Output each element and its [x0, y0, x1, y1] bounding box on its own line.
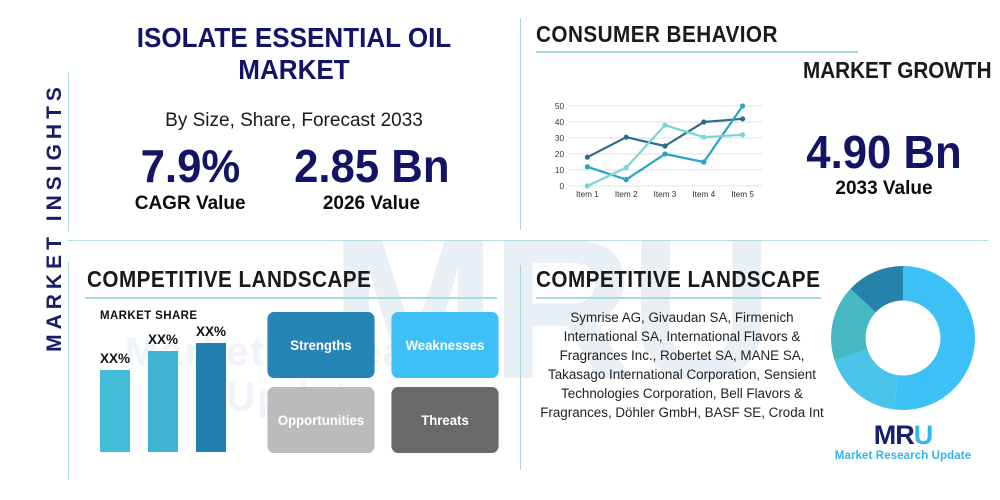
svg-text:40: 40	[555, 118, 565, 127]
panel-consumer-behavior: CONSUMER BEHAVIOR MARKET GROWTH 01020304…	[536, 10, 1000, 240]
consumer-behavior-underline	[536, 51, 858, 53]
market-growth-header: MARKET GROWTH	[536, 57, 1000, 84]
bar-chart-bars: XX%XX%XX%	[100, 324, 264, 452]
competitive-landscape-right-underline	[536, 297, 821, 299]
page-subtitle: By Size, Share, Forecast 2033	[68, 110, 520, 132]
chart-y-axis-labels: 01020304050	[555, 102, 565, 191]
page-title: ISOLATE ESSENTIAL OIL MARKET	[84, 22, 504, 86]
line-chart: 01020304050 Item 1Item 2Item 3Item 4Item…	[542, 98, 766, 210]
chart-series-group	[585, 103, 745, 188]
value-2033: 4.90 Bn	[774, 128, 994, 176]
divider-middle-top	[520, 18, 521, 230]
bar-unit: XX%	[196, 324, 226, 452]
logo-mark-u: U	[914, 420, 933, 450]
kpi-2026: 2.85 Bn 2026 Value	[290, 142, 454, 215]
bar	[196, 343, 226, 452]
kpi-2026-label: 2026 Value	[290, 193, 454, 215]
donut-chart-container: MRU Market Research Update	[823, 262, 983, 492]
swot-grid: StrengthsWeaknessesOpportunitiesThreats	[264, 310, 520, 453]
donut-chart	[827, 262, 979, 414]
svg-text:10: 10	[555, 166, 565, 175]
svg-text:20: 20	[555, 150, 565, 159]
logo-mark-mr: MR	[874, 420, 914, 450]
svg-text:Item 1: Item 1	[576, 190, 599, 199]
swot-box-threats[interactable]: Threats	[391, 387, 498, 453]
competitive-landscape-left-header: COMPETITIVE LANDSCAPE	[68, 258, 520, 293]
kpi-cagr: 7.9% CAGR Value	[135, 142, 246, 215]
competitive-landscape-right-title: COMPETITIVE LANDSCAPE	[536, 266, 820, 293]
panel-header: ISOLATE ESSENTIAL OIL MARKET By Size, Sh…	[68, 10, 520, 240]
svg-text:0: 0	[559, 182, 564, 191]
panel-competitive-landscape-right: COMPETITIVE LANDSCAPE Symrise AG, Givaud…	[536, 258, 1000, 493]
top-right-body: 01020304050 Item 1Item 2Item 3Item 4Item…	[536, 98, 1000, 210]
logo-mark: MRU	[874, 420, 933, 451]
svg-text:30: 30	[555, 134, 565, 143]
svg-text:Item 5: Item 5	[731, 190, 754, 199]
bar-label: XX%	[100, 351, 130, 366]
kpi-2026-value: 2.85 Bn	[294, 142, 449, 192]
consumer-behavior-header: CONSUMER BEHAVIOR	[536, 10, 1000, 53]
company-list: Symrise AG, Givaudan SA, Firmenich Inter…	[536, 308, 828, 422]
bottom-left-body: MARKET SHARE XX%XX%XX% StrengthsWeakness…	[68, 310, 520, 453]
growth-value-block: 4.90 Bn 2033 Value	[768, 98, 1000, 210]
bar-label: XX%	[196, 324, 226, 339]
bar-label: XX%	[148, 332, 178, 347]
swot-box-weaknesses[interactable]: Weaknesses	[391, 312, 498, 378]
competitive-landscape-left-title: COMPETITIVE LANDSCAPE	[87, 266, 371, 293]
logo-mru: MRU Market Research Update	[835, 420, 971, 462]
bar-unit: XX%	[100, 324, 130, 452]
donut-segment	[894, 266, 975, 410]
swot-box-strengths[interactable]: Strengths	[267, 312, 374, 378]
competitive-landscape-left-underline	[85, 297, 497, 299]
divider-horizontal	[68, 240, 988, 241]
line-chart-container: 01020304050 Item 1Item 2Item 3Item 4Item…	[536, 98, 768, 210]
logo-tagline: Market Research Update	[835, 450, 971, 462]
chart-x-axis-labels: Item 1Item 2Item 3Item 4Item 5	[576, 190, 754, 199]
panel-competitive-landscape-left: COMPETITIVE LANDSCAPE MARKET SHARE XX%XX…	[68, 258, 520, 493]
svg-text:Item 3: Item 3	[654, 190, 677, 199]
bar-unit: XX%	[148, 324, 178, 452]
kpi-row: 7.9% CAGR Value 2.85 Bn 2026 Value	[68, 142, 520, 215]
bar	[148, 351, 178, 452]
donut-segment	[835, 350, 899, 410]
svg-text:Item 2: Item 2	[615, 190, 638, 199]
market-growth-title: MARKET GROWTH	[803, 57, 992, 84]
consumer-behavior-title: CONSUMER BEHAVIOR	[536, 21, 778, 48]
swot-box-opportunities[interactable]: Opportunities	[267, 387, 374, 453]
bar	[100, 370, 130, 452]
divider-middle-bottom	[520, 265, 521, 470]
svg-text:50: 50	[555, 102, 565, 111]
value-2033-label: 2033 Value	[768, 178, 1000, 200]
kpi-cagr-value: 7.9%	[138, 142, 243, 192]
svg-text:Item 4: Item 4	[692, 190, 715, 199]
market-share-label: MARKET SHARE	[100, 310, 264, 322]
side-label-market-insights: MARKET INSIGHTS	[43, 77, 67, 357]
kpi-cagr-label: CAGR Value	[135, 193, 246, 215]
market-share-chart: MARKET SHARE XX%XX%XX%	[68, 310, 264, 453]
